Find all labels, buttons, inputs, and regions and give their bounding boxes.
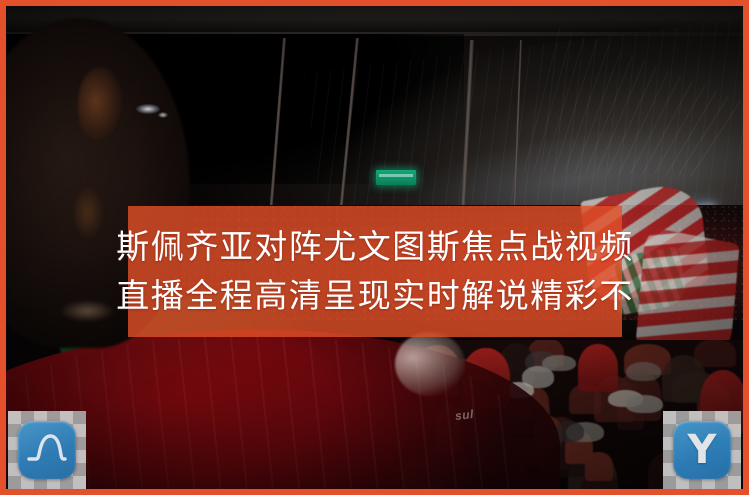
caption-banner: 斯佩齐亚对阵尤文图斯焦点战视频 直播全程高清呈现实时解说精彩不: [128, 206, 622, 337]
app-tile-blue: Y: [673, 421, 731, 479]
jersey-text: sul: [454, 407, 474, 423]
letter-y-icon: Y: [688, 430, 717, 470]
spectator-red-jersey: [578, 344, 618, 392]
watermark-letter-y-app-icon[interactable]: Y: [663, 411, 741, 489]
caption-line-2: 直播全程高清呈现实时解说精彩不: [116, 273, 634, 320]
watermark-wave-fin-app-icon[interactable]: [8, 411, 86, 489]
jacket-collar-highlight: [395, 332, 465, 396]
app-tile-blue: [18, 421, 76, 479]
scoreboard: [376, 170, 416, 185]
spectator-cap: [626, 362, 661, 381]
light-glint-small: [158, 112, 168, 118]
thumbnail-image: sul 斯佩齐亚对阵尤文图斯焦点战视频 直播全程高清呈现实时解说精彩不 Y: [0, 0, 749, 495]
cheek-highlight: [60, 300, 114, 322]
light-glint: [136, 104, 160, 114]
spectator-cap: [626, 395, 663, 413]
wave-fin-icon: [25, 428, 69, 472]
spectator-cap: [542, 355, 576, 372]
caption-line-1: 斯佩齐亚对阵尤文图斯焦点战视频: [116, 224, 634, 271]
ear-highlight-lower: [74, 186, 104, 240]
